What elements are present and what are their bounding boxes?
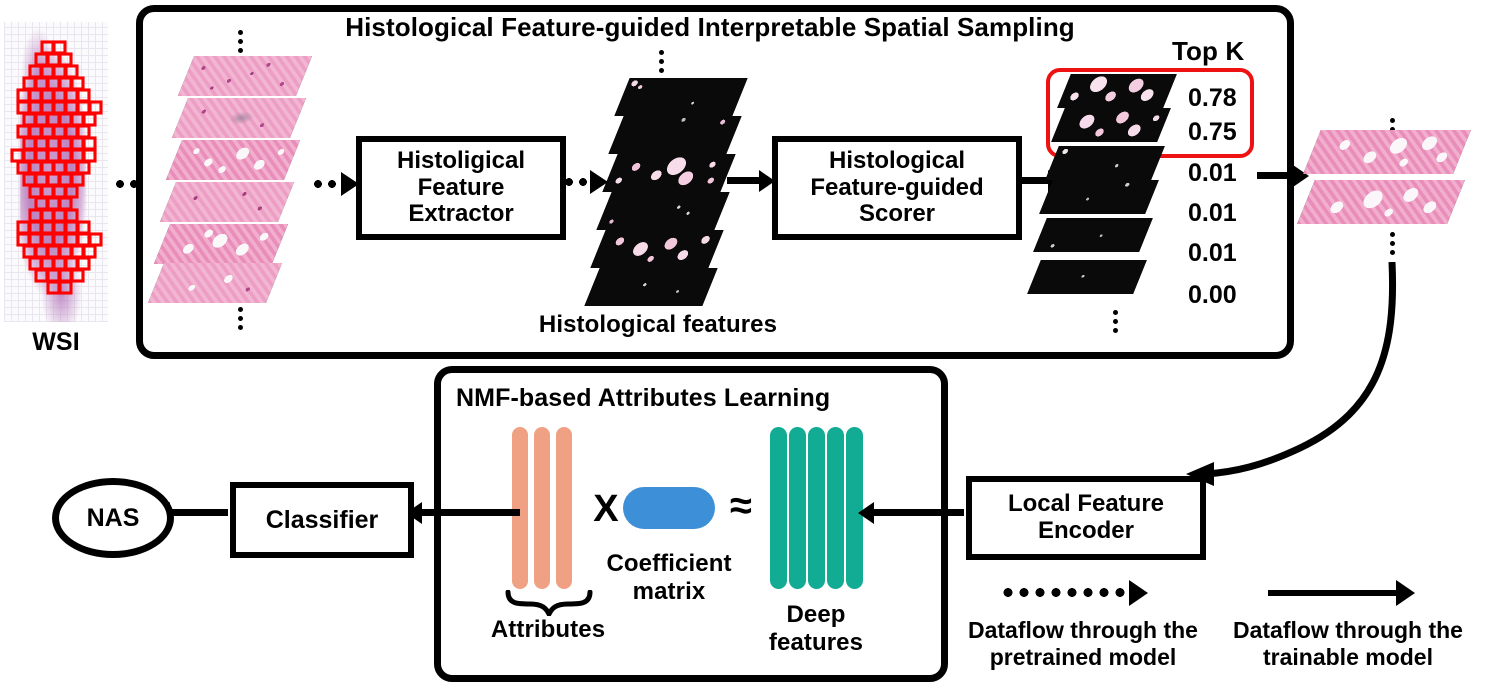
histological-feature-guided-scorer-box[interactable]: Histological Feature-guided Scorer [772, 136, 1022, 240]
coefficient-matrix-label-line2: matrix [599, 578, 739, 606]
wsi-thumbnail [4, 22, 108, 322]
extractor-line-1: Histoligical [397, 148, 525, 175]
patch-tile [160, 182, 294, 222]
classifier-box[interactable]: Classifier [230, 482, 414, 558]
histological-features-label: Histological features [528, 311, 788, 339]
nas-output-node[interactable]: NAS [52, 478, 174, 558]
coefficient-matrix-label-line1: Coefficient [599, 550, 739, 578]
score-value: 0.75 [1188, 118, 1237, 147]
legend-pretrained-line2: pretrained model [958, 644, 1208, 671]
score-value: 0.01 [1188, 159, 1237, 188]
scorer-line-1: Histological [810, 148, 983, 175]
scored-map-tile [1033, 218, 1153, 252]
spatial-sampling-title: Histological Feature-guided Interpretabl… [200, 12, 1220, 43]
patch-tile [172, 98, 306, 138]
scored-map-tile [1051, 108, 1171, 142]
arrow-encoder-to-nmf [872, 509, 964, 516]
attributes-label: Attributes [478, 616, 618, 644]
classifier-label: Classifier [266, 506, 379, 534]
local-feature-encoder-box[interactable]: Local Feature Encoder [966, 476, 1206, 560]
scored-map-tile [1057, 74, 1177, 108]
score-value: 0.01 [1188, 199, 1237, 228]
top-k-label: Top K [1172, 36, 1244, 67]
multiply-symbol: X [586, 488, 626, 531]
deep-features-label-line2: features [746, 629, 886, 657]
feature-stack-ellipsis-top [659, 50, 664, 73]
arrow-classifier-to-nas [168, 509, 228, 516]
deep-feature-bar [789, 427, 806, 589]
wsi-label: WSI [4, 328, 108, 357]
nmf-panel-title: NMF-based Attributes Learning [456, 384, 926, 413]
arrow-patches-to-extractor [311, 180, 343, 188]
patch-tile [166, 140, 300, 180]
patch-tile [148, 263, 282, 303]
score-value: 0.78 [1188, 84, 1237, 113]
scorer-line-2: Feature-guided [810, 175, 983, 202]
arrow-extractor-to-features [562, 178, 592, 186]
selected-patch-ellipsis-bottom [1390, 232, 1395, 255]
legend-trainable-line2: trainable model [1220, 644, 1476, 671]
feature-map-tile-highlight [590, 230, 723, 268]
selected-patch-tile [1303, 130, 1471, 174]
attribute-bar [512, 427, 528, 589]
scored-map-tile [1027, 260, 1147, 294]
approx-equal-symbol: ≈ [718, 484, 764, 529]
legend-solid-arrow-icon [1268, 590, 1400, 596]
histological-feature-extractor-box[interactable]: Histoligical Feature Extractor [356, 136, 566, 240]
encoder-line-1: Local Feature [1008, 491, 1164, 518]
deep-features-label-line1: Deep [746, 601, 886, 629]
scored-map-tile [1039, 180, 1159, 214]
legend-trainable-line1: Dataflow through the [1220, 617, 1476, 644]
curve-patches-to-encoder [1170, 262, 1430, 522]
wsi-sampling-grid [4, 22, 108, 322]
feature-map-tile [596, 192, 729, 230]
arrow-nmf-to-classifier [420, 509, 520, 516]
attribute-bar [534, 427, 550, 589]
encoder-line-2: Encoder [1008, 518, 1164, 545]
attributes-brace [504, 590, 594, 616]
scored-map-tile [1045, 146, 1165, 180]
feature-map-tile [608, 116, 741, 154]
deep-feature-bar [827, 427, 844, 589]
extractor-line-3: Extractor [397, 201, 525, 228]
patch-stack-ellipsis-top [238, 30, 243, 53]
arrow-panel-to-selected-patches [1257, 172, 1295, 179]
patch-tile [178, 56, 312, 96]
selected-patch-tile [1297, 180, 1465, 224]
coefficient-matrix-shape [623, 487, 715, 529]
patch-tile [154, 224, 288, 264]
extractor-line-2: Feature [397, 175, 525, 202]
feature-map-tile-highlight [602, 154, 735, 192]
feature-map-tile [584, 268, 717, 306]
scorer-line-3: Scorer [810, 201, 983, 228]
attribute-bar [556, 427, 572, 589]
legend-pretrained-line1: Dataflow through the [958, 617, 1208, 644]
deep-feature-bar [808, 427, 825, 589]
arrow-features-to-scorer [727, 177, 761, 184]
feature-map-tile [614, 78, 747, 116]
scored-map-ellipsis-bottom [1113, 310, 1118, 333]
patch-stack-ellipsis-bottom [238, 307, 243, 330]
legend-dotted-arrow-icon [1000, 588, 1132, 597]
deep-feature-bar [770, 427, 787, 589]
nas-label: NAS [87, 504, 140, 533]
